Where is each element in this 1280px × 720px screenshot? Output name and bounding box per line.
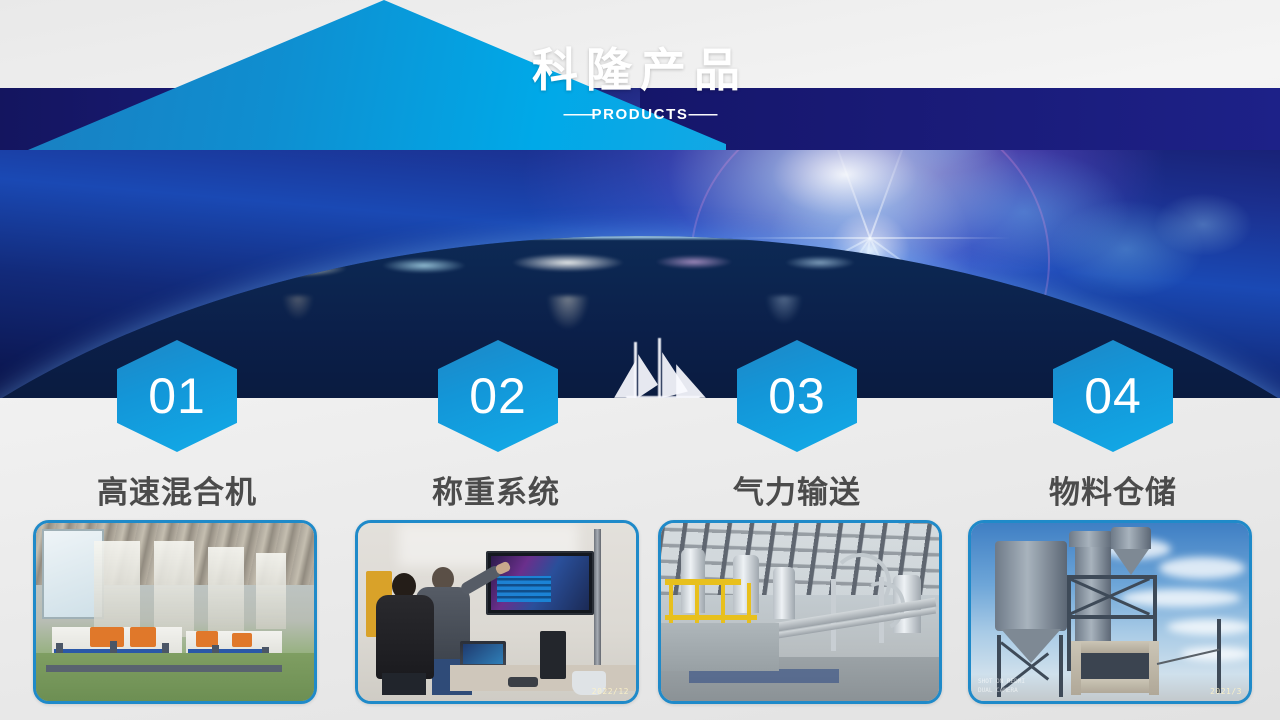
high-speed-mixer-factory-photo xyxy=(36,523,314,701)
product-label-04: 物料仓储 xyxy=(963,467,1263,512)
hero-sailing-ship xyxy=(614,338,714,398)
subtitle-dash-right: —— xyxy=(688,106,716,123)
product-photo-card-04[interactable]: 2021/3 SHOT ON REDMIDUAL CAMERA xyxy=(968,520,1252,704)
product-label-03: 气力输送 xyxy=(647,467,947,512)
product-number-02: 02 xyxy=(469,371,527,421)
product-label-01: 高速混合机 xyxy=(27,467,327,512)
product-photo-card-01[interactable] xyxy=(33,520,317,704)
slide-root: 科隆产品 ——PRODUCTS—— 01 02 03 04 高速混合机 称重系统… xyxy=(0,0,1280,720)
pneumatic-conveying-plant-photo xyxy=(661,523,939,701)
page-title: 科隆产品 xyxy=(0,34,1280,100)
subtitle-text: PRODUCTS xyxy=(592,106,689,123)
material-storage-silo-photo: 2021/3 SHOT ON REDMIDUAL CAMERA xyxy=(971,523,1249,701)
product-photo-card-03[interactable] xyxy=(658,520,942,704)
product-number-03: 03 xyxy=(768,371,826,421)
page-subtitle: ——PRODUCTS—— xyxy=(0,106,1280,123)
photo-watermark-04: SHOT ON REDMIDUAL CAMERA xyxy=(978,677,1025,695)
title-banner: 科隆产品 ——PRODUCTS—— xyxy=(0,0,1280,150)
product-label-02: 称重系统 xyxy=(346,467,646,512)
product-number-01: 01 xyxy=(148,371,206,421)
photo-timestamp-02: 2022/12 xyxy=(592,687,629,696)
product-number-04: 04 xyxy=(1084,371,1142,421)
photo-timestamp-04: 2021/3 xyxy=(1210,687,1242,696)
product-photo-card-02[interactable]: 2022/12 xyxy=(355,520,639,704)
weighing-system-control-room-photo: 2022/12 xyxy=(358,523,636,701)
subtitle-dash-left: —— xyxy=(564,106,592,123)
